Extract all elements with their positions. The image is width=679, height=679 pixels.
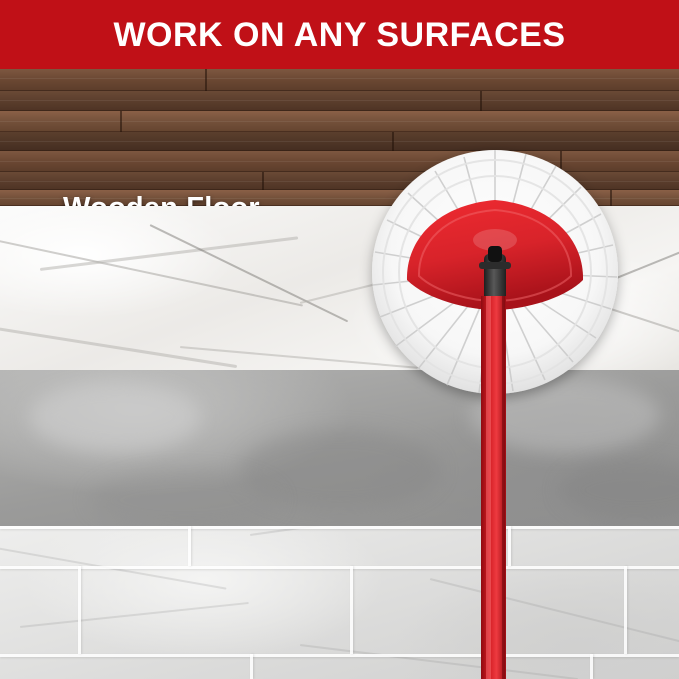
page-title: WORK ON ANY SURFACES <box>113 18 565 52</box>
product-feature-poster: WORK ON ANY SURFACES Wooden Floor <box>0 0 679 679</box>
surface-label-wooden-floor: Wooden Floor <box>63 192 260 206</box>
surface-band-wooden-floor: Wooden Floor <box>0 69 679 206</box>
surface-band-cement-floor: Cement Floor <box>0 370 679 526</box>
header-banner: WORK ON ANY SURFACES <box>0 0 679 69</box>
surface-band-marble-floor: Marble Floor <box>0 206 679 370</box>
surface-band-tile-floor: Tile Floor <box>0 526 679 679</box>
